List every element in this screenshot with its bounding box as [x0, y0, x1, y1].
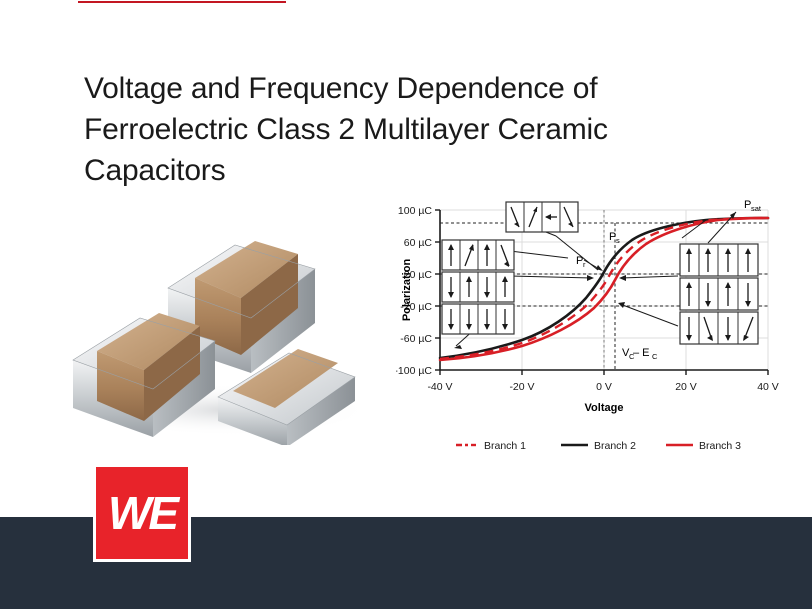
- mlcc-capacitors-photo: [55, 205, 400, 445]
- legend-item-branch-3: Branch 3: [699, 440, 741, 452]
- slide-page: WURTH ELEKTRONIK Voltage and Frequency D…: [0, 0, 812, 609]
- domain-box-left-group: [442, 240, 514, 334]
- xtick-label: 20 V: [675, 381, 697, 393]
- anno-ps-sub: s: [616, 236, 620, 245]
- xtick-label: 0 V: [596, 381, 612, 393]
- anno-vcec-sub2: C: [652, 352, 658, 361]
- anno-psat-sub: sat: [751, 204, 762, 213]
- xtick-label: 40 V: [757, 381, 779, 393]
- we-logo-text: WE: [96, 486, 188, 540]
- xtick-label: -40 V: [427, 381, 452, 393]
- brand-wordmark-rule: [78, 1, 286, 3]
- ytick-label: -60 µC: [400, 333, 432, 345]
- ytick-label: 100 µC: [398, 205, 432, 217]
- hysteresis-chart: 100 µC 60 µC 20 µC -20 µC -60 µC -100 µC…: [396, 198, 796, 468]
- brand-wordmark-cropped: WURTH ELEKTRONIK: [78, 0, 298, 8]
- chart-legend: Branch 1 Branch 2 Branch 3: [456, 440, 741, 452]
- we-logo: WE: [93, 464, 191, 562]
- ytick-label: 60 µC: [404, 237, 433, 249]
- domain-box-top-random: [506, 202, 578, 232]
- legend-item-branch-2: Branch 2: [594, 440, 636, 452]
- legend-item-branch-1: Branch 1: [484, 440, 526, 452]
- page-title: Voltage and Frequency Dependence of Ferr…: [84, 68, 704, 191]
- ytick-label: -100 µC: [396, 365, 432, 377]
- domain-box-right-group: [680, 244, 758, 344]
- anno-vcec-label2: – E: [633, 347, 650, 359]
- y-axis-title: Polarization: [401, 259, 413, 322]
- xtick-label: -20 V: [509, 381, 534, 393]
- x-axis-title: Voltage: [585, 402, 624, 414]
